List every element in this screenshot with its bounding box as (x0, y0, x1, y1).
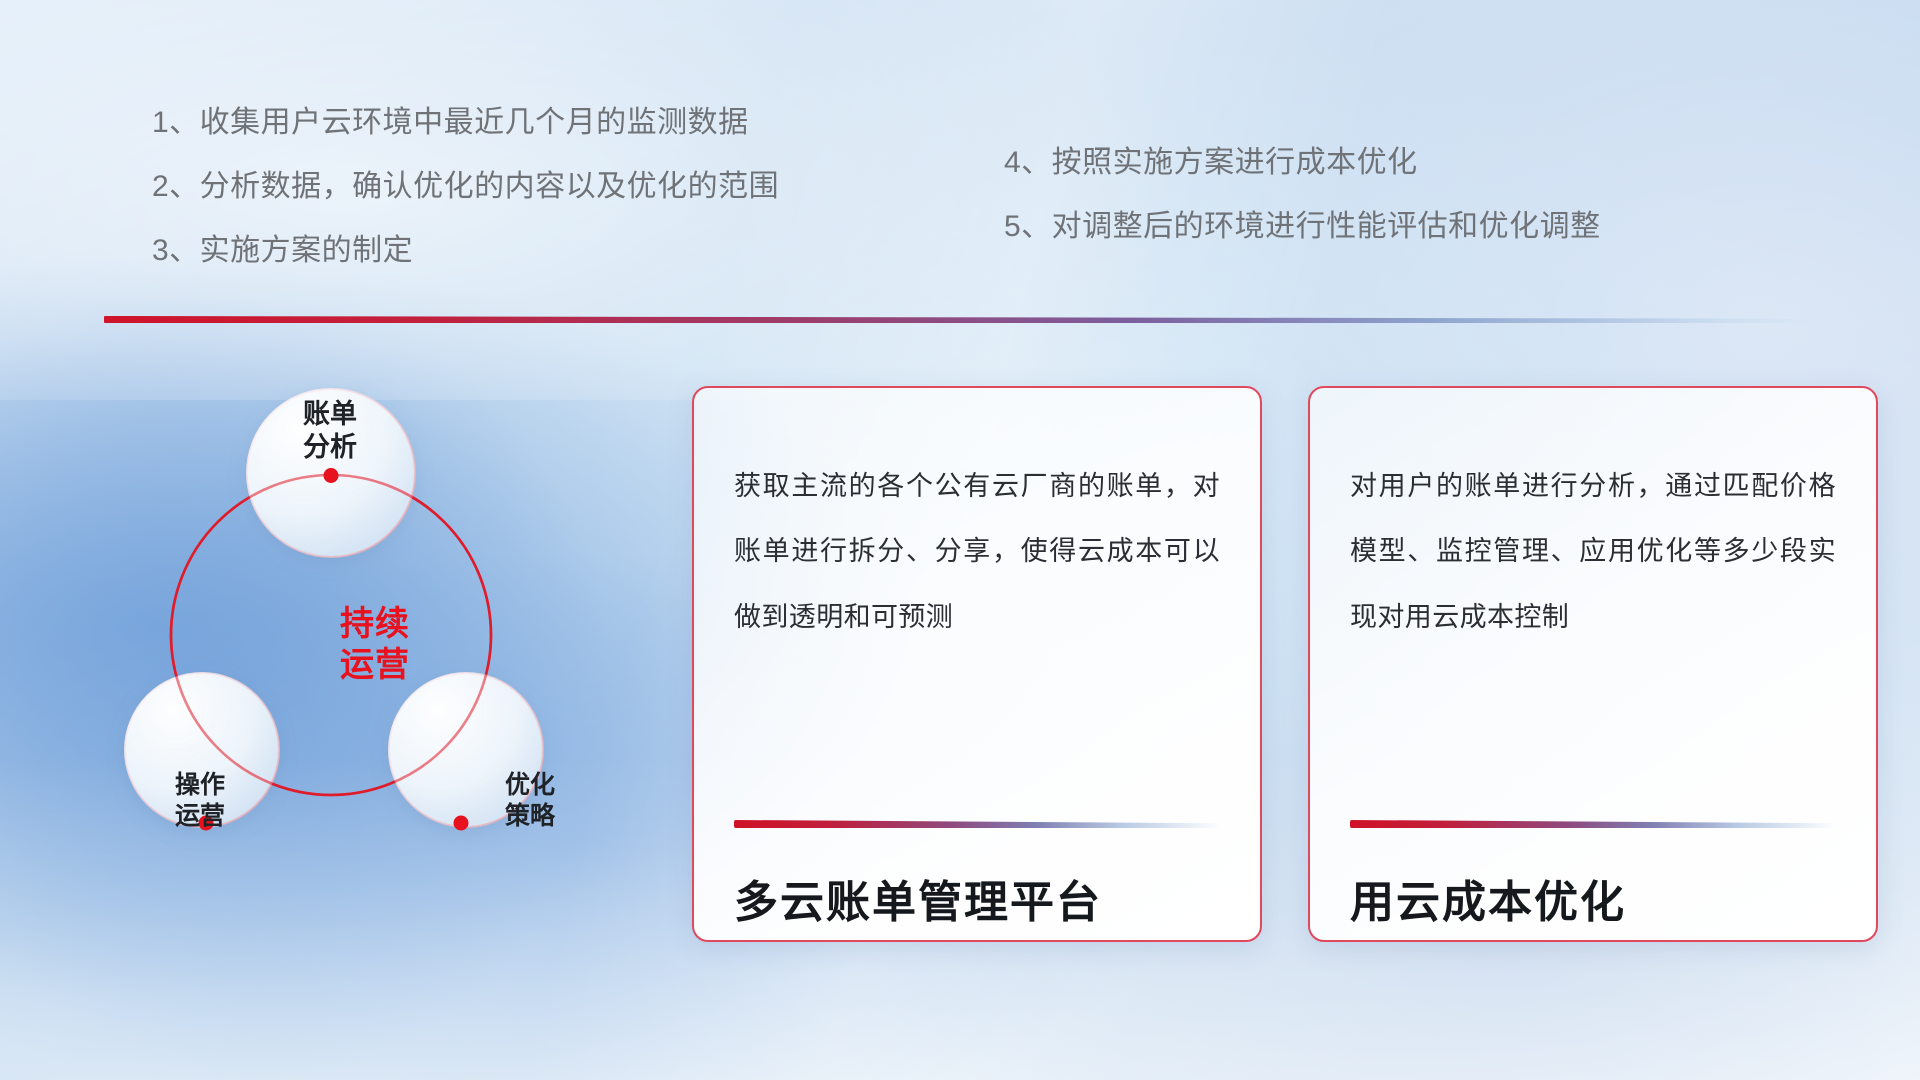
card-body-text: 对用户的账单进行分析，通过匹配价格模型、监控管理、应用优化等多少段实现对用云成本… (1350, 454, 1836, 650)
info-card-multicloud-billing[interactable]: 获取主流的各个公有云厂商的账单，对账单进行拆分、分享，使得云成本可以做到透明和可… (692, 386, 1262, 942)
step-item-1: 1、收集用户云环境中最近几个月的监测数据 (152, 108, 779, 138)
card-accent-rule (734, 820, 1220, 828)
venn-label-top-line1: 账单 (255, 398, 405, 431)
venn-node-top (324, 468, 339, 483)
venn-label-center-line2: 运营 (285, 645, 465, 686)
info-card-cloud-cost-optimization[interactable]: 对用户的账单进行分析，通过匹配价格模型、监控管理、应用优化等多少段实现对用云成本… (1308, 386, 1878, 942)
venn-label-left: 操作 运营 (125, 770, 275, 831)
step-item-3: 3、实施方案的制定 (152, 236, 779, 266)
venn-label-center-line1: 持续 (285, 604, 465, 645)
venn-label-top: 账单 分析 (255, 398, 405, 464)
venn-label-right-line2: 策略 (455, 801, 605, 832)
step-item-5: 5、对调整后的环境进行性能评估和优化调整 (1004, 212, 1601, 242)
venn-label-right: 优化 策略 (455, 770, 605, 831)
step-item-4: 4、按照实施方案进行成本优化 (1004, 148, 1601, 178)
card-body-text: 获取主流的各个公有云厂商的账单，对账单进行拆分、分享，使得云成本可以做到透明和可… (734, 454, 1220, 650)
card-title: 多云账单管理平台 (734, 866, 1220, 930)
step-item-2: 2、分析数据，确认优化的内容以及优化的范围 (152, 172, 779, 202)
venn-label-right-line1: 优化 (455, 770, 605, 801)
venn-label-center: 持续 运营 (285, 604, 465, 686)
steps-column-right: 4、按照实施方案进行成本优化 5、对调整后的环境进行性能评估和优化调整 (1004, 148, 1601, 276)
card-title: 用云成本优化 (1350, 866, 1836, 930)
card-accent-rule (1350, 820, 1836, 828)
venn-label-top-line2: 分析 (255, 431, 405, 464)
venn-label-left-line1: 操作 (125, 770, 275, 801)
steps-column-left: 1、收集用户云环境中最近几个月的监测数据 2、分析数据，确认优化的内容以及优化的… (152, 108, 779, 300)
venn-label-left-line2: 运营 (125, 801, 275, 832)
steps-section: 1、收集用户云环境中最近几个月的监测数据 2、分析数据，确认优化的内容以及优化的… (0, 108, 1920, 288)
